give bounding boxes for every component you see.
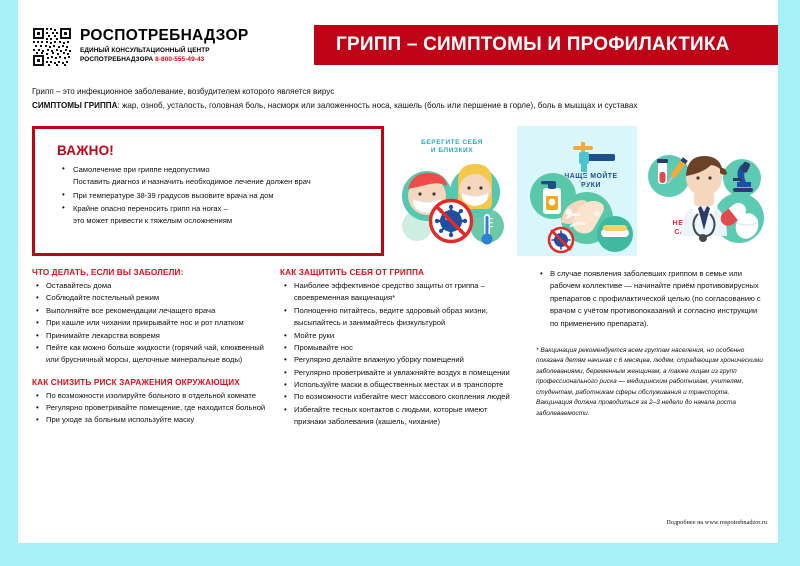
consult-center-line1: ЕДИНЫЙ КОНСУЛЬТАЦИОННЫЙ ЦЕНТР (80, 47, 248, 56)
poster-card: РОСПОТРЕБНАДЗОР ЕДИНЫЙ КОНСУЛЬТАЦИОННЫЙ … (18, 0, 778, 543)
intro-line-2: СИМПТОМЫ ГРИППА: жар, озноб, усталость, … (32, 99, 767, 113)
list-item: Выполняйте все рекомендации лечащего вра… (46, 305, 270, 317)
section-title-how-to-protect: КАК ЗАЩИТИТЬ СЕБЯ ОТ ГРИППА (280, 268, 518, 277)
qr-code-icon (32, 27, 72, 67)
column-antivirals: В случае появления заболевших гриппом в … (536, 268, 767, 419)
list-how-to-protect: Наиболее эффективное средство защиты от … (280, 280, 518, 429)
list-item: Избегайте тесных контактов с людьми, кот… (294, 404, 518, 429)
list-item: Промывайте нос (294, 342, 518, 354)
hotline-phone[interactable]: 8-800-555-49-43 (155, 56, 204, 63)
faucet-icon (573, 142, 615, 190)
doctor-icon (681, 156, 727, 242)
symptoms-text: : жар, озноб, усталость, головная боль, … (117, 101, 637, 110)
org-name: РОСПОТРЕБНАДЗОР (80, 28, 248, 44)
list-item: По возможности избегайте мест массового … (294, 391, 518, 403)
list-reduce-risk: По возможности изолируйте больного в отд… (32, 390, 270, 427)
logo-block: РОСПОТРЕБНАДЗОР ЕДИНЫЙ КОНСУЛЬТАЦИОННЫЙ … (32, 27, 248, 67)
title-banner: ГРИПП – СИМПТОМЫ И ПРОФИЛАКТИКА (314, 25, 778, 65)
list-item: Регулярно проветривайте и увлажняйте воз… (294, 367, 518, 379)
list-item: При кашле или чихании прикрывайте нос и … (46, 317, 270, 329)
footer-more-info: Подробнее на www.rospotrebnadzor.ru (32, 519, 767, 526)
panel-wash-hands: ЧАЩЕ МОЙТЕРУКИ (517, 126, 637, 256)
list-item: Принимайте лекарства вовремя (46, 330, 270, 342)
list-item: Пейте как можно больше жидкости (горячий… (46, 342, 270, 367)
section-title-reduce-risk: КАК СНИЗИТЬ РИСК ЗАРАЖЕНИЯ ОКРУЖАЮЩИХ (32, 378, 270, 387)
list-item: Самолечение при гриппе недопустимоПостав… (73, 164, 369, 189)
list-item: В случае появления заболевших гриппом в … (550, 268, 767, 330)
column-what-to-do: ЧТО ДЕЛАТЬ, ЕСЛИ ВЫ ЗАБОЛЕЛИ: Оставайтес… (32, 268, 270, 427)
list-what-to-do: Оставайтесь домаСоблюдайте постельный ре… (32, 280, 270, 367)
vaccination-footnote: * Вакцинация рекомендуется всем группам … (536, 346, 767, 420)
list-item: Оставайтесь дома (46, 280, 270, 292)
symptoms-label: СИМПТОМЫ ГРИППА (32, 101, 117, 110)
list-item: При температуре 38-39 градусов вызовите … (73, 190, 369, 202)
list-item: Полноценно питайтесь, ведите здоровый об… (294, 305, 518, 330)
list-item: Соблюдайте постельный режим (46, 292, 270, 304)
no-virus-icon (429, 199, 473, 243)
consult-center-info: ЕДИНЫЙ КОНСУЛЬТАЦИОННЫЙ ЦЕНТР РОСПОТРЕБН… (80, 47, 248, 64)
list-item: Мойте руки (294, 330, 518, 342)
no-virus-icon (548, 227, 574, 253)
list-item: Используйте маски в общественных местах … (294, 379, 518, 391)
list-item: Регулярно делайте влажную уборку помещен… (294, 354, 518, 366)
panel-protect-yourself: БЕРЕГИТЕ СЕБЯИ БЛИЗКИХ (391, 126, 513, 256)
important-list: Самолечение при гриппе недопустимоПостав… (35, 164, 381, 227)
list-item: При уходе за больным используйте маску (46, 414, 270, 426)
important-title: ВАЖНО! (35, 129, 381, 164)
list-item: По возможности изолируйте больного в отд… (46, 390, 270, 402)
page-title: ГРИПП – СИМПТОМЫ И ПРОФИЛАКТИКА (314, 34, 730, 56)
list-item: Крайне опасно переносить грипп на ногах … (73, 203, 369, 228)
logo-text: РОСПОТРЕБНАДЗОР ЕДИНЫЙ КОНСУЛЬТАЦИОННЫЙ … (80, 27, 248, 65)
panel-no-self-medication: НЕ ЗАНИМАЙТЕСЬСАМОЛЕЧЕНИЕМ! (641, 126, 767, 256)
intro-line-1: Грипп – это инфекционное заболевание, во… (32, 85, 767, 99)
list-item: Наиболее эффективное средство защиты от … (294, 280, 518, 305)
intro-text: Грипп – это инфекционное заболевание, во… (32, 85, 767, 113)
column-how-to-protect: КАК ЗАЩИТИТЬ СЕБЯ ОТ ГРИППА Наиболее эфф… (280, 268, 518, 429)
list-item: Регулярно проветривайте помещение, где н… (46, 402, 270, 414)
soap-bar-icon (601, 225, 629, 237)
illustration-band: ВАЖНО! Самолечение при гриппе недопустим… (32, 126, 767, 261)
important-box: ВАЖНО! Самолечение при гриппе недопустим… (32, 126, 384, 256)
consult-center-line2: РОСПОТРЕБНАДЗОРА 8-800-555-49-43 (80, 56, 248, 65)
poster-header: РОСПОТРЕБНАДЗОР ЕДИНЫЙ КОНСУЛЬТАЦИОННЫЙ … (18, 0, 778, 72)
section-title-what-to-do: ЧТО ДЕЛАТЬ, ЕСЛИ ВЫ ЗАБОЛЕЛИ: (32, 268, 270, 277)
list-antivirals: В случае появления заболевших гриппом в … (536, 268, 767, 330)
